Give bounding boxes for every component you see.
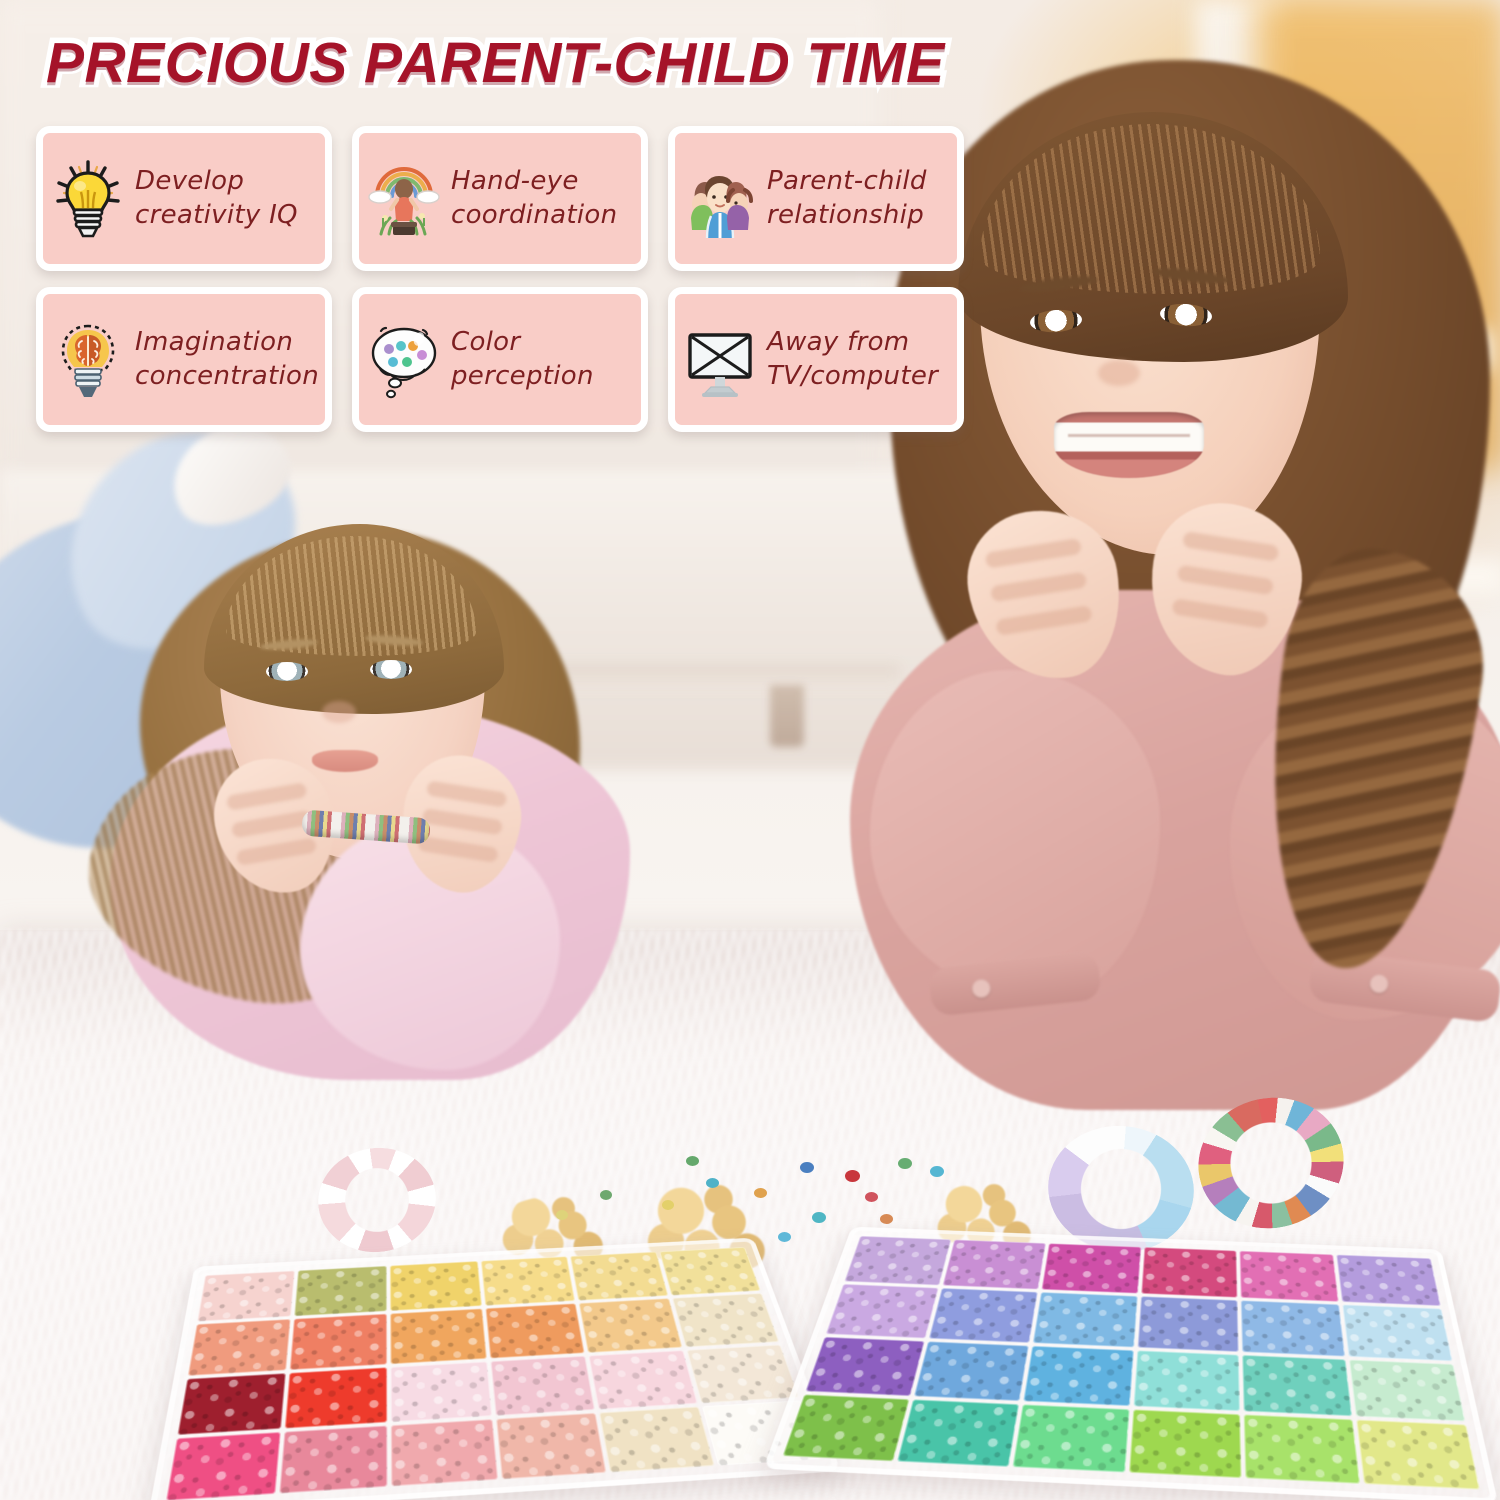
rainbow-child-icon — [367, 156, 441, 242]
no-tv-icon — [683, 317, 757, 403]
feature-badge-imagination-concentration[interactable]: Imagination concentration — [36, 287, 332, 432]
feature-badge-away-from-tv[interactable]: Away from TV/computer — [668, 287, 964, 432]
brain-lightbulb-icon — [51, 317, 125, 403]
palette-thought-bubble-icon — [367, 317, 441, 403]
feature-badge-label: Hand-eye coordination — [451, 165, 617, 232]
feature-badge-label: Color perception — [451, 326, 594, 393]
lightbulb-icon — [51, 156, 125, 242]
feature-badge-label: Away from TV/computer — [767, 326, 938, 393]
feature-badge-label: Parent-child relationship — [767, 165, 927, 232]
feature-badge-label: Imagination concentration — [135, 326, 319, 393]
feature-badge-develop-creativity[interactable]: Develop creativity IQ — [36, 126, 332, 271]
marketing-overlay: PRECIOUS PARENT-CHILD TIME — [0, 0, 1500, 1500]
page-title: PRECIOUS PARENT-CHILD TIME — [46, 30, 945, 96]
feature-badge-hand-eye-coordination[interactable]: Hand-eye coordination — [352, 126, 648, 271]
feature-badge-grid: Develop creativity IQ — [36, 126, 964, 432]
feature-badge-label: Develop creativity IQ — [135, 165, 298, 232]
feature-badge-color-perception[interactable]: Color perception — [352, 287, 648, 432]
family-hug-icon — [683, 156, 757, 242]
feature-badge-parent-child-relationship[interactable]: Parent-child relationship — [668, 126, 964, 271]
